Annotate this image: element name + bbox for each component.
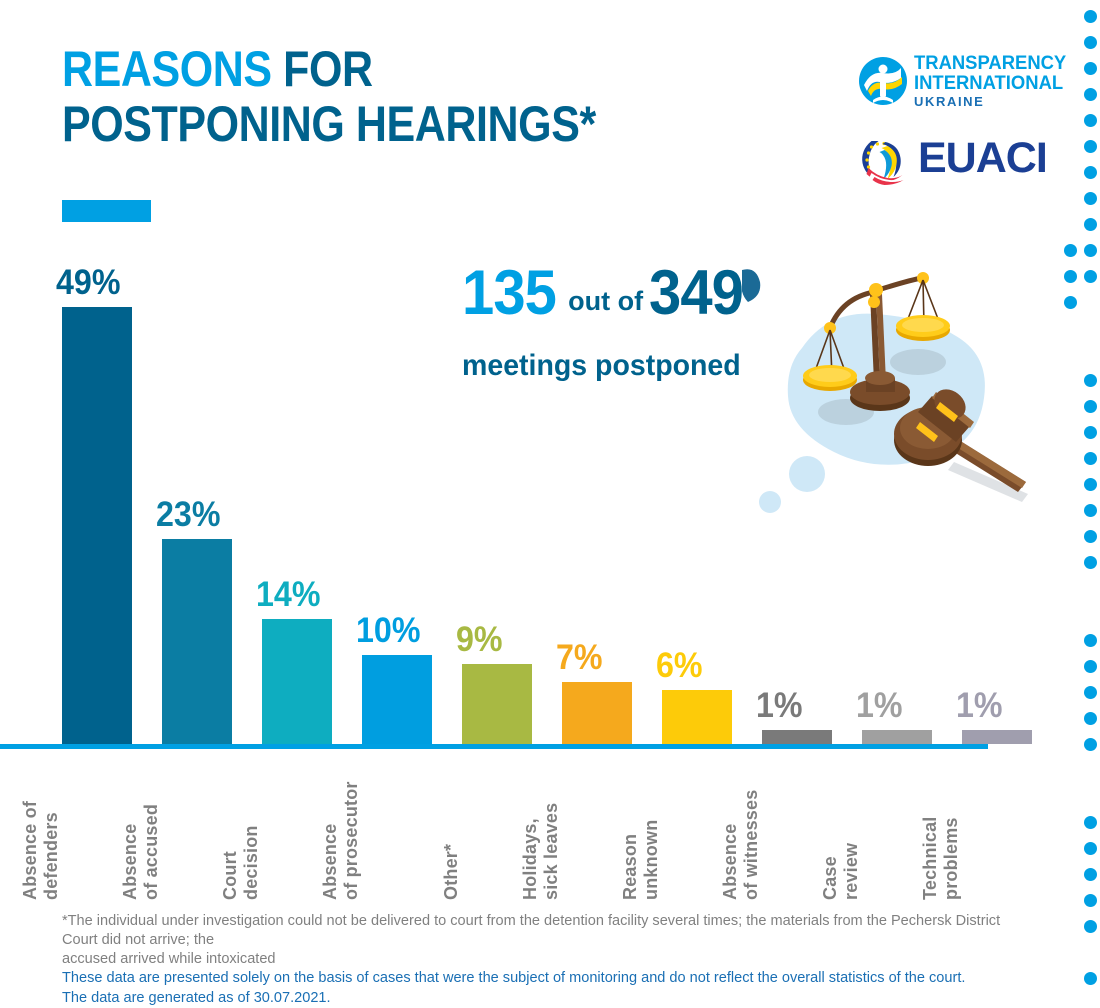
- bar-column: 1%: [762, 258, 832, 744]
- decorative-dot: [1084, 62, 1097, 75]
- category-label-line: Absence: [320, 781, 341, 900]
- bar: [362, 655, 432, 744]
- category-label-line: Technical: [920, 817, 941, 901]
- footnote: *The individual under investigation coul…: [62, 911, 1057, 1008]
- decorative-dot: [1084, 244, 1097, 257]
- bar-column: 49%: [62, 258, 132, 744]
- decorative-dot: [1084, 140, 1097, 153]
- bar-column: 1%: [962, 258, 1032, 744]
- footnote-line-3: These data are presented solely on the b…: [62, 968, 1027, 988]
- category-label-line: Case: [820, 843, 841, 900]
- transparency-international-wordmark: TRANSPARENCY INTERNATIONAL UKRAINE: [914, 54, 1048, 109]
- bar-value-label: 49%: [56, 265, 120, 301]
- euaci-swoosh-icon: [856, 135, 912, 185]
- decorative-dot-rail: [1058, 0, 1100, 1000]
- decorative-dot: [1084, 36, 1097, 49]
- category-label-line: Absence: [720, 790, 741, 900]
- decorative-dot: [1064, 270, 1077, 283]
- chart-baseline: [0, 744, 988, 749]
- bar-chart: 49%23%14%10%9%7%6%1%1%1%: [62, 258, 1050, 748]
- category-label-line: problems: [941, 817, 962, 901]
- page-title-line-2: POSTPONING HEARINGS*: [62, 97, 681, 152]
- decorative-dot: [1084, 504, 1097, 517]
- euaci-wordmark: EUACI: [918, 134, 1047, 182]
- ti-wordmark-line-3: UKRAINE: [914, 94, 1048, 109]
- decorative-dot: [1084, 816, 1097, 829]
- page-title-line-1-rest: FOR: [283, 41, 372, 97]
- decorative-dot: [1084, 972, 1097, 985]
- bar-column: 6%: [662, 258, 732, 744]
- decorative-dot: [1084, 868, 1097, 881]
- bar: [862, 730, 932, 744]
- category-label-line: Other*: [441, 844, 462, 900]
- category-label-line: of accused: [141, 804, 162, 900]
- category-label-line: defenders: [41, 801, 62, 900]
- decorative-dot: [1084, 270, 1097, 283]
- decorative-dot: [1084, 218, 1097, 231]
- bar: [762, 730, 832, 744]
- page-title: REASONS FOR POSTPONING HEARINGS*: [62, 42, 782, 152]
- ti-wordmark-line-1: TRANSPARENCY: [914, 54, 1044, 74]
- footnote-line-1: *The individual under investigation coul…: [62, 911, 1027, 949]
- category-label: Technicalproblems: [962, 752, 1032, 900]
- page-title-line-1: REASONS FOR: [62, 42, 681, 97]
- decorative-dot: [1084, 192, 1097, 205]
- bar-value-label: 1%: [756, 688, 803, 724]
- bar-column: 9%: [462, 258, 532, 744]
- bar-column: 10%: [362, 258, 432, 744]
- category-label-line: decision: [241, 825, 262, 900]
- decorative-dot: [1084, 374, 1097, 387]
- bar-value-label: 6%: [656, 648, 703, 684]
- bar-column: 7%: [562, 258, 632, 744]
- bar-value-label: 14%: [256, 577, 320, 613]
- category-label-line: Absence: [120, 804, 141, 900]
- category-label-line: Holidays,: [520, 803, 541, 900]
- bar: [962, 730, 1032, 744]
- decorative-dot: [1084, 114, 1097, 127]
- decorative-dot: [1084, 530, 1097, 543]
- category-label-line: of witnesses: [741, 790, 762, 900]
- bar: [162, 539, 232, 744]
- category-label-line: Reason: [620, 820, 641, 900]
- bar: [262, 619, 332, 744]
- decorative-dot: [1084, 478, 1097, 491]
- euaci-logo: EUACI: [856, 132, 1048, 188]
- transparency-international-ukraine-logo: TRANSPARENCY INTERNATIONAL UKRAINE: [858, 54, 1048, 110]
- bar-value-label: 7%: [556, 640, 603, 676]
- bar: [562, 682, 632, 744]
- decorative-dot: [1084, 842, 1097, 855]
- decorative-dot: [1084, 556, 1097, 569]
- category-label-line: unknown: [641, 820, 662, 900]
- category-label-line: sick leaves: [541, 803, 562, 900]
- bar: [462, 664, 532, 744]
- bar-value-label: 10%: [356, 613, 420, 649]
- decorative-dot: [1084, 660, 1097, 673]
- decorative-dot: [1084, 400, 1097, 413]
- decorative-dot: [1084, 88, 1097, 101]
- title-accent-bar: [62, 200, 151, 222]
- decorative-dot: [1084, 712, 1097, 725]
- bar-column: 1%: [862, 258, 932, 744]
- decorative-dot: [1084, 10, 1097, 23]
- footnote-line-2: accused arrived while intoxicated: [62, 949, 1027, 968]
- category-label: Absenceof prosecutor: [362, 752, 432, 900]
- footnote-line-4: The data are generated as of 30.07.2021.: [62, 988, 1027, 1008]
- bar-column: 23%: [162, 258, 232, 744]
- decorative-dot: [1084, 738, 1097, 751]
- decorative-dot: [1084, 920, 1097, 933]
- decorative-dot: [1064, 244, 1077, 257]
- bar-value-label: 9%: [456, 622, 503, 658]
- decorative-dot: [1084, 634, 1097, 647]
- decorative-dot: [1084, 686, 1097, 699]
- bar: [662, 690, 732, 744]
- category-label-line: Absence of: [20, 801, 41, 900]
- decorative-dot: [1084, 426, 1097, 439]
- decorative-dot: [1084, 894, 1097, 907]
- transparency-international-globe-icon: [858, 56, 908, 106]
- bar-value-label: 23%: [156, 497, 220, 533]
- category-label-line: review: [841, 843, 862, 900]
- decorative-dot: [1084, 166, 1097, 179]
- bar-value-label: 1%: [956, 688, 1003, 724]
- bar-chart-plot-area: 49%23%14%10%9%7%6%1%1%1%: [62, 258, 1050, 744]
- category-label-line: of prosecutor: [341, 781, 362, 900]
- category-label-line: Court: [220, 825, 241, 900]
- bar-value-label: 1%: [856, 688, 903, 724]
- decorative-dot: [1084, 452, 1097, 465]
- decorative-dot: [1064, 296, 1077, 309]
- bar-chart-category-labels: Absence ofdefendersAbsenceof accusedCour…: [62, 752, 1050, 900]
- bar-column: 14%: [262, 258, 332, 744]
- ti-wordmark-line-2: INTERNATIONAL: [914, 74, 1044, 94]
- page-title-accent-word: REASONS: [62, 41, 272, 97]
- bar: [62, 307, 132, 744]
